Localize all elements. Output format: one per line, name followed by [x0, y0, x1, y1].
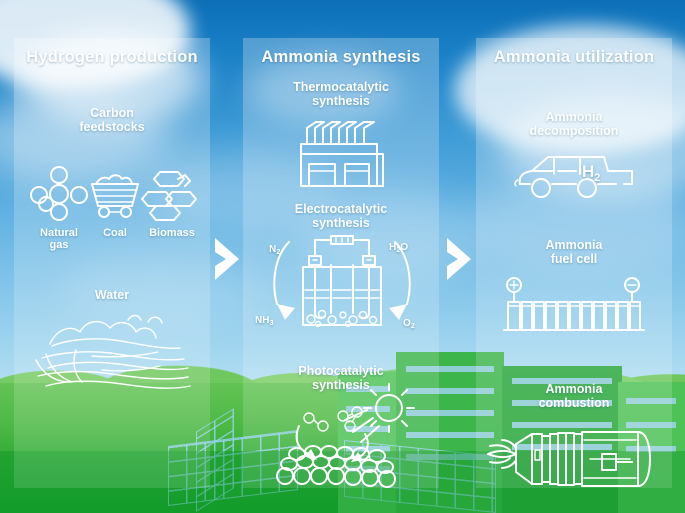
arrow-hydrogen-to-synthesis: [210, 236, 244, 282]
panel-ammonia-synthesis[interactable]: Ammonia synthesis Thermocatalytic synthe…: [243, 38, 439, 488]
panel-hydrogen-production[interactable]: Hydrogen production Carbon feedstocks Na…: [14, 38, 210, 488]
photocatalyst-sun-icon: [269, 394, 425, 484]
group-label-carbon-feedstocks: Carbon feedstocks: [14, 106, 210, 134]
water-waves-icon: [32, 310, 194, 400]
group-label-thermocatalytic: Thermocatalytic synthesis: [243, 80, 439, 108]
icon-photocatalytic[interactable]: [269, 394, 425, 484]
page-title: Ammonia synthesis: [243, 48, 439, 67]
chevron-right-icon: [210, 236, 244, 282]
group-label-water: Water: [14, 288, 210, 302]
hydrogen-car-icon: [514, 148, 638, 204]
icon-coal[interactable]: [84, 166, 146, 222]
jet-engine-icon: [484, 420, 664, 498]
icon-fuel-cell-stack[interactable]: [498, 276, 650, 338]
page-title: Ammonia utilization: [476, 48, 672, 67]
infographic-canvas: Hydrogen production Carbon feedstocks Na…: [0, 0, 685, 513]
icon-hydrogen-car[interactable]: H2: [514, 148, 638, 204]
chemical-plant-icon: [287, 114, 397, 192]
icon-natural-gas[interactable]: [28, 166, 90, 222]
electrolysis-cell-icon: [253, 234, 431, 336]
coal-cart-icon: [84, 166, 146, 222]
methane-molecule-icon: [28, 166, 90, 222]
group-label-ammonia-fuel-cell: Ammonia fuel cell: [476, 238, 672, 266]
fuel-cell-stack-icon: [498, 276, 650, 338]
icon-electrolysis-cell[interactable]: [253, 234, 431, 336]
panel-ammonia-utilization[interactable]: Ammonia utilization Ammonia decompositio…: [476, 38, 672, 488]
icon-jet-engine[interactable]: [484, 420, 664, 498]
icon-thermocatalytic-plant[interactable]: [287, 114, 397, 192]
group-label-electrocatalytic: Electrocatalytic synthesis: [243, 202, 439, 230]
group-label-ammonia-decomposition: Ammonia decomposition: [476, 110, 672, 138]
page-title: Hydrogen production: [14, 48, 210, 67]
label-biomass: Biomass: [132, 227, 212, 239]
group-label-photocatalytic: Photocatalytic synthesis: [243, 364, 439, 392]
icon-water[interactable]: [32, 310, 194, 400]
badge-h2: H2: [582, 162, 600, 182]
icon-biomass[interactable]: [138, 166, 206, 222]
arrow-synthesis-to-utilization: [442, 236, 476, 282]
chevron-right-icon: [442, 236, 476, 282]
biomass-pellets-icon: [138, 166, 206, 222]
group-label-ammonia-combustion: Ammonia combustion: [476, 382, 672, 410]
